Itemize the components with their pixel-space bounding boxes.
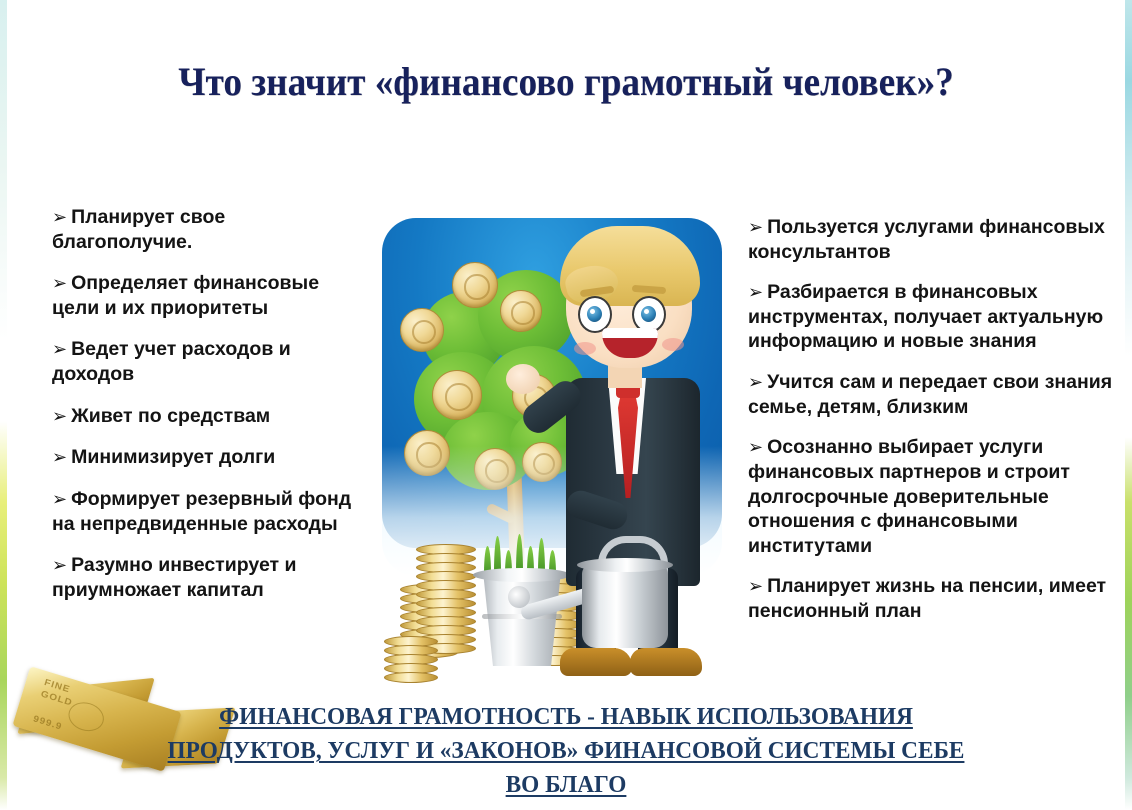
list-item: ➢Планирует свое благополучие. xyxy=(52,205,364,254)
list-item-text: Учится сам и передает свои знания семье,… xyxy=(748,371,1112,418)
watering-can-top xyxy=(577,558,673,572)
left-edge-strip xyxy=(0,0,7,810)
arrow-bullet-icon: ➢ xyxy=(748,372,763,393)
list-item: ➢Планирует жизнь на пенсии, имеет пенсио… xyxy=(748,574,1126,623)
list-item: ➢Разумно инвестирует и приумножает капит… xyxy=(52,553,364,602)
list-item-text: Минимизирует долги xyxy=(71,446,275,468)
arrow-bullet-icon: ➢ xyxy=(748,217,763,238)
list-item: ➢Живет по средствам xyxy=(52,404,364,429)
boy-shoe-left xyxy=(560,648,632,676)
list-item-text: Ведет учет расходов и доходов xyxy=(52,338,291,385)
right-edge-strip xyxy=(1125,0,1132,810)
list-item: ➢Пользуется услугами финансовых консульт… xyxy=(748,215,1126,264)
bottom-banner: ФИНАНСОВАЯ ГРАМОТНОСТЬ - НАВЫК ИСПОЛЬЗОВ… xyxy=(17,700,1115,802)
boy-cheek-left xyxy=(574,342,596,355)
gold-coin-icon xyxy=(400,308,444,352)
list-item: ➢Ведет учет расходов и доходов xyxy=(52,337,364,386)
arrow-bullet-icon: ➢ xyxy=(748,282,763,303)
list-item-text: Разумно инвестирует и приумножает капита… xyxy=(52,554,297,601)
watering-can-icon xyxy=(582,564,668,648)
arrow-bullet-icon: ➢ xyxy=(52,555,67,576)
coin-stack-icon xyxy=(384,636,436,684)
banner-line: ФИНАНСОВАЯ ГРАМОТНОСТЬ - НАВЫК ИСПОЛЬЗОВ… xyxy=(219,700,913,734)
list-item-text: Планирует свое благополучие. xyxy=(52,206,225,253)
left-bullet-list: ➢Планирует свое благополучие. ➢Определяе… xyxy=(52,205,364,620)
flower-pot-rim xyxy=(473,568,571,582)
gold-coin-icon xyxy=(432,370,482,420)
banner-line: ВО БЛАГО xyxy=(506,768,627,802)
right-bullet-list: ➢Пользуется услугами финансовых консульт… xyxy=(748,215,1126,639)
arrow-bullet-icon: ➢ xyxy=(52,447,67,468)
list-item: ➢Разбирается в финансовых инструментах, … xyxy=(748,280,1126,354)
arrow-bullet-icon: ➢ xyxy=(52,406,67,427)
list-item: ➢Определяет финансовые цели и их приорит… xyxy=(52,271,364,320)
list-item-text: Определяет финансовые цели и их приорите… xyxy=(52,272,319,319)
arrow-bullet-icon: ➢ xyxy=(52,207,67,228)
gold-coin-icon xyxy=(500,290,542,332)
boy-shoe-right xyxy=(630,648,702,676)
boy-cheek-right xyxy=(662,338,684,351)
page-title: Что значит «финансово грамотный человек»… xyxy=(40,58,1093,105)
money-tree-illustration xyxy=(370,196,742,686)
list-item: ➢Формирует резервный фонд на непредвиден… xyxy=(52,487,364,536)
list-item-text: Формирует резервный фонд на непредвиденн… xyxy=(52,488,351,535)
arrow-bullet-icon: ➢ xyxy=(52,489,67,510)
arrow-bullet-icon: ➢ xyxy=(52,339,67,360)
list-item: ➢Учится сам и передает свои знания семье… xyxy=(748,370,1126,419)
list-item: ➢Минимизирует долги xyxy=(52,445,364,470)
gold-coin-icon xyxy=(452,262,498,308)
slide-canvas: Что значит «финансово грамотный человек»… xyxy=(0,0,1132,810)
list-item: ➢Осознанно выбирает услуги финансовых па… xyxy=(748,435,1126,558)
arrow-bullet-icon: ➢ xyxy=(748,437,763,458)
arrow-bullet-icon: ➢ xyxy=(748,576,763,597)
banner-line: ПРОДУКТОВ, УСЛУГ И «ЗАКОНОВ» ФИНАНСОВОЙ … xyxy=(168,734,965,768)
list-item-text: Планирует жизнь на пенсии, имеет пенсион… xyxy=(748,575,1106,622)
list-item-text: Осознанно выбирает услуги финансовых пар… xyxy=(748,436,1070,556)
boy-pupil-right xyxy=(641,306,656,322)
list-item-text: Пользуется услугами финансовых консульта… xyxy=(748,216,1105,263)
list-item-text: Разбирается в финансовых инструментах, п… xyxy=(748,281,1103,352)
arrow-bullet-icon: ➢ xyxy=(52,273,67,294)
list-item-text: Живет по средствам xyxy=(71,405,270,427)
boy-pupil-left xyxy=(587,306,602,322)
boy-hand-raised xyxy=(506,364,540,394)
